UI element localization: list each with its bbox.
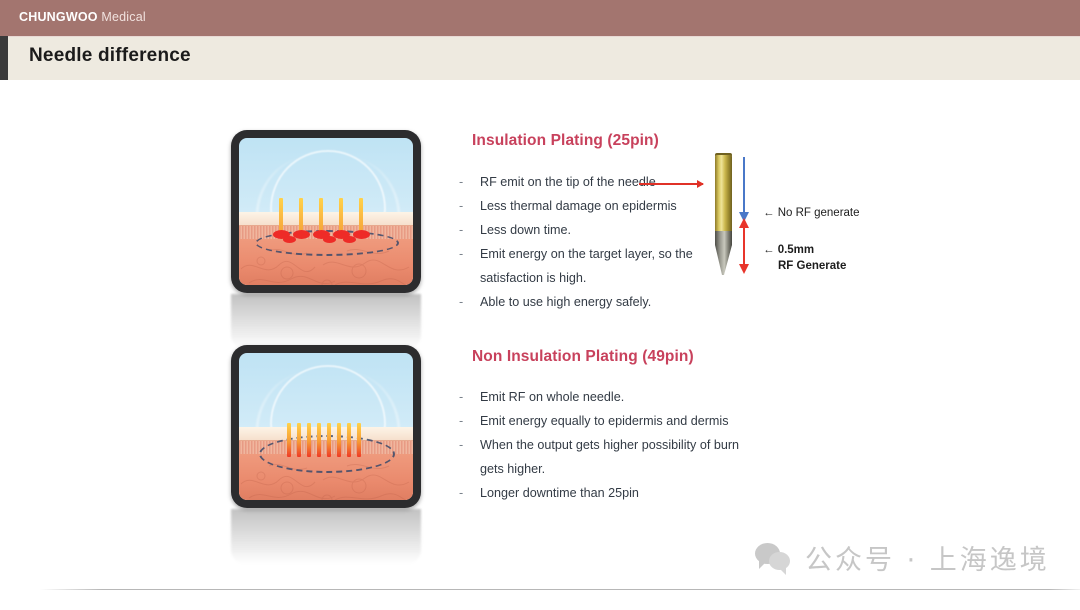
list-item-continuation: satisfaction is high. xyxy=(456,266,693,290)
skin-layers-25pin xyxy=(239,212,413,286)
brand-logo: CHUNGWOO Medical xyxy=(19,10,146,24)
illustration-49pin xyxy=(231,345,421,508)
list-item-text: satisfaction is high. xyxy=(480,271,586,285)
bullet-dash: - xyxy=(459,409,463,433)
list-item-text: Less thermal damage on epidermis xyxy=(480,199,677,213)
callout-arrow-red-icon xyxy=(639,183,703,185)
slide-body: Insulation Plating (25pin) -RF emit on t… xyxy=(0,80,1080,610)
list-item-text: When the output gets higher possibility … xyxy=(480,438,739,452)
list-item-text: Less down time. xyxy=(480,223,571,237)
skin-scene-49pin xyxy=(239,353,413,500)
list-item-text: Longer downtime than 25pin xyxy=(480,486,639,500)
list-item: -When the output gets higher possibility… xyxy=(456,433,739,457)
brand-band: CHUNGWOO Medical xyxy=(0,0,1080,36)
bullet-dash: - xyxy=(459,385,463,409)
list-item: -Longer downtime than 25pin xyxy=(456,481,739,505)
rf-depth-arrow-icon xyxy=(743,227,745,265)
brand-name-light: Medical xyxy=(101,10,145,24)
footer-divider xyxy=(40,589,1080,590)
needle-insulated-shaft xyxy=(715,155,732,233)
bullet-dash: - xyxy=(459,481,463,505)
list-item-continuation: gets higher. xyxy=(456,457,739,481)
list-item: -Emit energy equally to epidermis and de… xyxy=(456,409,739,433)
watermark-text: 公众号 · 上海逸境 xyxy=(805,538,1050,577)
section-title-49pin: Non Insulation Plating (49pin) xyxy=(472,348,694,366)
list-item: -Less down time. xyxy=(456,218,693,242)
needle-tip-shape-icon xyxy=(715,231,732,275)
needle-array-49pin xyxy=(239,427,413,501)
bullet-dash: - xyxy=(459,242,463,266)
no-rf-generate-label: ← No RF generate xyxy=(763,207,860,219)
skin-scene-25pin xyxy=(239,138,413,285)
needle-exposed-tip xyxy=(715,231,732,273)
device-frame-25pin xyxy=(231,130,421,293)
list-item: -Less thermal damage on epidermis xyxy=(456,194,693,218)
bullet-dash: - xyxy=(459,170,463,194)
device-frame-49pin xyxy=(231,345,421,508)
wechat-icon xyxy=(755,543,793,573)
bullet-dash: - xyxy=(459,218,463,242)
list-item-text: gets higher. xyxy=(480,462,545,476)
list-item-text: Emit RF on whole needle. xyxy=(480,390,624,404)
illustration-25pin xyxy=(231,130,421,293)
list-item: -Emit energy on the target layer, so the xyxy=(456,242,693,266)
list-item: -Emit RF on whole needle. xyxy=(456,385,739,409)
needle-array-25pin xyxy=(239,212,413,286)
bullet-list-49pin: -Emit RF on whole needle. -Emit energy e… xyxy=(456,385,739,505)
list-item-text: RF emit on the tip of the needle xyxy=(480,175,656,189)
list-item: -Able to use high energy safely. xyxy=(456,290,693,314)
rf-depth-label: ← 0.5mm xyxy=(763,244,814,256)
card-reflection-49pin xyxy=(231,509,421,564)
page-title: Needle difference xyxy=(29,45,191,67)
list-item: -RF emit on the tip of the needle xyxy=(456,170,693,194)
watermark: 公众号 · 上海逸境 xyxy=(755,538,1050,577)
no-rf-region-arrow-icon xyxy=(743,157,745,213)
section-title-25pin: Insulation Plating (25pin) xyxy=(472,132,659,150)
skin-layers-49pin xyxy=(239,427,413,501)
bullet-dash: - xyxy=(459,194,463,218)
list-item-text: Able to use high energy safely. xyxy=(480,295,651,309)
needle-closeup-diagram: ← No RF generate ← 0.5mm RF Generate xyxy=(703,155,903,285)
rf-generate-label: RF Generate xyxy=(778,260,846,272)
brand-name-strong: CHUNGWOO xyxy=(19,10,98,24)
list-item-text: Emit energy equally to epidermis and der… xyxy=(480,414,729,428)
bullet-list-25pin: -RF emit on the tip of the needle -Less … xyxy=(456,170,693,314)
list-item-text: Emit energy on the target layer, so the xyxy=(480,247,693,261)
bullet-dash: - xyxy=(459,433,463,457)
card-reflection-25pin xyxy=(231,294,421,349)
bullet-dash: - xyxy=(459,290,463,314)
title-accent-bar xyxy=(0,36,8,80)
